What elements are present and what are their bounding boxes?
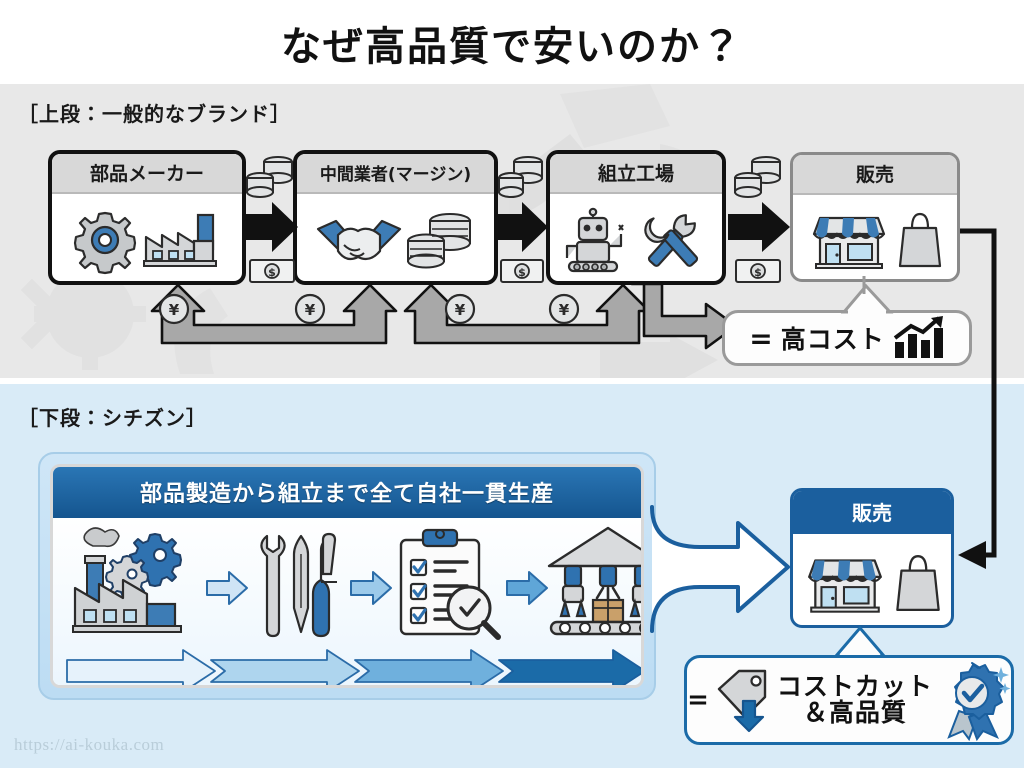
node-middleman-title: 中間業者(マージン) bbox=[297, 154, 494, 194]
node-sales-top[interactable]: 販売 bbox=[790, 152, 960, 282]
cost-cut-equals: = bbox=[687, 685, 709, 715]
black-arrow-right-3 bbox=[728, 198, 790, 256]
svg-text:$: $ bbox=[268, 266, 276, 279]
page-title: なぜ高品質で安いのか？ bbox=[0, 14, 1024, 72]
stage-arrow-3-icon bbox=[505, 570, 549, 606]
bottom-section-label: ［下段：シチズン］ bbox=[18, 402, 207, 431]
yen-coin-icon-2: ¥ bbox=[293, 292, 327, 326]
panel-banner-text: 部品製造から組立まで全て自社一貫生産 bbox=[53, 467, 641, 518]
banknote-dollar-icon: $ bbox=[736, 260, 780, 282]
stage-arrow-2-icon bbox=[349, 570, 393, 606]
quality-ribbon-badge-icon bbox=[939, 661, 1011, 739]
infographic-root: なぜ高品質で安いのか？ ［上段：一般的なブランド］ ［下段：シチズン］ bbox=[0, 0, 1024, 768]
svg-text:$: $ bbox=[518, 266, 526, 279]
site-watermark: https://ai-kouka.com bbox=[14, 735, 164, 755]
node-middleman[interactable]: 中間業者(マージン) bbox=[293, 150, 498, 285]
gear-icon bbox=[74, 209, 136, 271]
converging-arrow-icon[interactable] bbox=[646, 505, 796, 653]
panel-inner-frame: 部品製造から組立まで全て自社一貫生産 bbox=[50, 464, 644, 688]
robotic-assembly-line-icon bbox=[545, 526, 644, 644]
tools-wrench-screwdriver-icon bbox=[251, 530, 345, 640]
node-sales-bottom-title: 販売 bbox=[793, 491, 951, 534]
factory-icon bbox=[142, 209, 220, 271]
shopping-bag-icon bbox=[896, 208, 944, 270]
svg-text:¥: ¥ bbox=[559, 301, 570, 319]
node-parts-maker[interactable]: 部品メーカー bbox=[48, 150, 246, 285]
shop-icon bbox=[806, 206, 892, 272]
top-section-label: ［上段：一般的なブランド］ bbox=[18, 98, 291, 127]
money-return-flow-2 bbox=[403, 283, 651, 345]
in-house-production-panel: 部品製造から組立まで全て自社一貫生産 bbox=[38, 452, 656, 700]
callout-cost-cut[interactable]: = コストカット ＆高品質 bbox=[684, 655, 1014, 745]
cost-cut-line1: コストカット bbox=[777, 674, 933, 700]
title-bar: なぜ高品質で安いのか？ bbox=[0, 0, 1024, 84]
shopping-bag-icon bbox=[893, 550, 943, 614]
svg-text:¥: ¥ bbox=[169, 301, 180, 319]
svg-text:$: $ bbox=[754, 266, 762, 279]
banknote-dollar-icon: $ bbox=[501, 260, 543, 282]
rising-bar-chart-icon bbox=[893, 316, 945, 360]
svg-text:¥: ¥ bbox=[305, 301, 316, 319]
black-arrow-right-1 bbox=[246, 198, 298, 256]
svg-text:¥: ¥ bbox=[455, 301, 466, 319]
yen-coin-icon-4: ¥ bbox=[547, 292, 581, 326]
price-tag-down-arrow-icon bbox=[715, 667, 771, 733]
sales-to-callout-line bbox=[836, 276, 866, 296]
top-sales-to-bottom-sales-connector bbox=[960, 225, 1024, 575]
black-arrow-right-2 bbox=[496, 198, 548, 256]
factory-gears-icon bbox=[71, 528, 199, 640]
callout-high-cost[interactable]: = 高コスト bbox=[722, 310, 972, 366]
banknote-dollar-icon: $ bbox=[250, 260, 294, 282]
node-sales-top-title: 販売 bbox=[793, 155, 957, 195]
node-assembly-factory[interactable]: 組立工場 bbox=[546, 150, 726, 285]
yen-coin-icon-1: ¥ bbox=[157, 292, 191, 326]
checklist-magnifier-icon bbox=[393, 528, 505, 644]
shop-icon bbox=[801, 548, 889, 616]
node-sales-bottom[interactable]: 販売 bbox=[790, 488, 954, 628]
node-assembly-factory-title: 組立工場 bbox=[550, 154, 722, 194]
coin-stack-icon bbox=[406, 207, 476, 271]
cost-cut-line2: ＆高品質 bbox=[777, 700, 933, 726]
node-parts-maker-title: 部品メーカー bbox=[52, 154, 242, 194]
tools-icon bbox=[633, 205, 713, 275]
robot-icon bbox=[559, 206, 631, 274]
handshake-icon bbox=[316, 209, 402, 269]
yen-coin-icon-3: ¥ bbox=[443, 292, 477, 326]
high-cost-text: 高コスト bbox=[781, 320, 885, 356]
stage-arrow-1-icon bbox=[205, 570, 249, 606]
progress-arrow-bar bbox=[65, 648, 644, 688]
high-cost-equals: = bbox=[749, 322, 772, 355]
